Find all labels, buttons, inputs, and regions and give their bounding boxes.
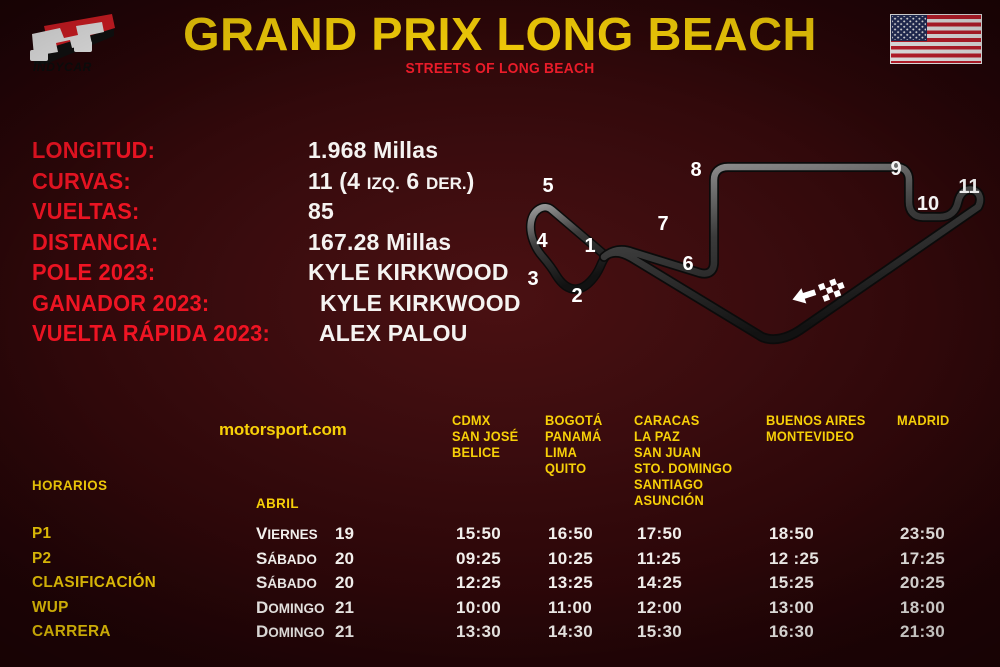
session-time: 09:25 xyxy=(456,549,501,569)
schedule-row: P2SÁBADO2009:2510:2511:2512 :2517:25 xyxy=(0,549,1000,574)
timezone-city: LA PAZ xyxy=(634,429,732,445)
timezone-city: ASUNCIÓN xyxy=(634,493,732,509)
schedule-row: WUPDOMINGO2110:0011:0012:0013:0018:00 xyxy=(0,598,1000,623)
stat-value: ALEX PALOU xyxy=(319,319,468,347)
stat-label: POLE 2023: xyxy=(32,258,155,286)
session-time: 21:30 xyxy=(900,622,945,642)
session-day: SÁBADO xyxy=(256,549,317,570)
timezone-city: LIMA xyxy=(545,445,602,461)
timezone-city: CARACAS xyxy=(634,413,732,429)
session-time: 20:25 xyxy=(900,573,945,593)
stat-row: CURVAS:11 (4 IZQ. 6 DER.) xyxy=(32,167,512,198)
session-time: 17:25 xyxy=(900,549,945,569)
direction-arrow-icon xyxy=(790,285,818,308)
session-time: 13:30 xyxy=(456,622,501,642)
stat-label: LONGITUD: xyxy=(32,136,155,164)
timezone-city: BELICE xyxy=(452,445,518,461)
session-time: 14:30 xyxy=(548,622,593,642)
session-date: 19 xyxy=(335,524,354,544)
corner-number-1: 1 xyxy=(584,235,595,257)
stat-label: DISTANCIA: xyxy=(32,228,159,256)
corner-number-11: 11 xyxy=(958,176,979,198)
session-name: CARRERA xyxy=(32,622,111,642)
stat-row: POLE 2023:KYLE KIRKWOOD xyxy=(32,258,512,289)
stat-value: 1.968 Millas xyxy=(308,136,438,164)
session-time: 13:00 xyxy=(769,598,814,618)
stat-row: DISTANCIA:167.28 Millas xyxy=(32,228,512,259)
stat-row: LONGITUD:1.968 Millas xyxy=(32,136,512,167)
corner-number-9: 9 xyxy=(890,158,901,180)
stat-label: VUELTAS: xyxy=(32,197,140,225)
session-time: 12:00 xyxy=(637,598,682,618)
session-name: P1 xyxy=(32,524,51,544)
corner-number-7: 7 xyxy=(657,213,668,235)
session-time: 15:25 xyxy=(769,573,814,593)
session-name: WUP xyxy=(32,598,69,618)
timezone-header: CDMXSAN JOSÉBELICE xyxy=(452,413,518,461)
timezone-city: BUENOS AIRES xyxy=(766,413,865,429)
session-time: 15:50 xyxy=(456,524,501,544)
timezone-city: MADRID xyxy=(897,413,949,429)
session-time: 10:25 xyxy=(548,549,593,569)
session-date: 20 xyxy=(335,573,354,593)
corner-number-4: 4 xyxy=(536,230,548,252)
stat-value: KYLE KIRKWOOD xyxy=(320,289,521,317)
session-date: 21 xyxy=(335,598,354,618)
session-day: DOMINGO xyxy=(256,622,325,643)
corner-number-3: 3 xyxy=(527,268,538,290)
session-time: 12 :25 xyxy=(769,549,819,569)
session-time: 15:30 xyxy=(637,622,682,642)
stat-row: GANADOR 2023:KYLE KIRKWOOD xyxy=(32,289,512,320)
session-time: 17:50 xyxy=(637,524,682,544)
session-time: 16:30 xyxy=(769,622,814,642)
stat-label: GANADOR 2023: xyxy=(32,289,209,317)
corner-number-6: 6 xyxy=(682,253,693,275)
session-date: 21 xyxy=(335,622,354,642)
corner-number-5: 5 xyxy=(542,175,553,197)
page-title: GRAND PRIX LONG BEACH xyxy=(0,8,1000,60)
session-day: DOMINGO xyxy=(256,598,325,619)
circuit-map: 1234567891011 xyxy=(500,130,1000,380)
flag-canton xyxy=(891,15,927,41)
corner-number-8: 8 xyxy=(690,159,701,181)
session-time: 18:50 xyxy=(769,524,814,544)
schedule-table: P1VIERNES1915:5016:5017:5018:5023:50P2SÁ… xyxy=(0,524,1000,647)
stat-row: VUELTAS:85 xyxy=(32,197,512,228)
stat-row: VUELTA RÁPIDA 2023:ALEX PALOU xyxy=(32,319,512,350)
session-time: 18:00 xyxy=(900,598,945,618)
timezone-city: STO. DOMINGO xyxy=(634,461,732,477)
page-subtitle: STREETS OF LONG BEACH xyxy=(40,60,960,77)
timezone-city: MONTEVIDEO xyxy=(766,429,865,445)
timezone-header: MADRID xyxy=(897,413,949,429)
timezone-city: SAN JOSÉ xyxy=(452,429,518,445)
session-time: 13:25 xyxy=(548,573,593,593)
timezone-header: BUENOS AIRESMONTEVIDEO xyxy=(766,413,865,445)
session-day: VIERNES xyxy=(256,524,318,545)
session-day: SÁBADO xyxy=(256,573,317,594)
stat-value: 85 xyxy=(308,197,334,225)
session-name: CLASIFICACIÓN xyxy=(32,573,156,593)
session-time: 16:50 xyxy=(548,524,593,544)
timezone-city: BOGOTÁ xyxy=(545,413,602,429)
stat-value: 167.28 Millas xyxy=(308,228,451,256)
race-info-poster: INDYCAR GRAND PRIX LONG BEACH STREETS OF… xyxy=(0,0,1000,667)
schedule-section-label: HORARIOS xyxy=(32,477,107,493)
session-time: 12:25 xyxy=(456,573,501,593)
stat-label: VUELTA RÁPIDA 2023: xyxy=(32,319,270,347)
schedule-row: CARRERADOMINGO2113:3014:3015:3016:3021:3… xyxy=(0,622,1000,647)
session-time: 10:00 xyxy=(456,598,501,618)
schedule-row: CLASIFICACIÓNSÁBADO2012:2513:2514:2515:2… xyxy=(0,573,1000,598)
timezone-header: BOGOTÁPANAMÁLIMAQUITO xyxy=(545,413,602,477)
race-stats-list: LONGITUD:1.968 MillasCURVAS:11 (4 IZQ. 6… xyxy=(32,136,512,350)
schedule-row: P1VIERNES1915:5016:5017:5018:5023:50 xyxy=(0,524,1000,549)
session-time: 11:25 xyxy=(637,549,681,569)
session-time: 11:00 xyxy=(548,598,592,618)
motorsport-brand-logo[interactable]: motorsport.com xyxy=(219,420,347,440)
timezone-city: SAN JUAN xyxy=(634,445,732,461)
timezone-city: CDMX xyxy=(452,413,518,429)
session-time: 14:25 xyxy=(637,573,682,593)
corner-number-2: 2 xyxy=(571,285,582,307)
corner-number-10: 10 xyxy=(917,193,939,215)
session-time: 23:50 xyxy=(900,524,945,544)
timezone-city: SANTIAGO xyxy=(634,477,732,493)
month-label: ABRIL xyxy=(256,495,299,511)
timezone-header: CARACASLA PAZSAN JUANSTO. DOMINGOSANTIAG… xyxy=(634,413,732,509)
session-name: P2 xyxy=(32,549,51,569)
flag-stars xyxy=(892,16,926,40)
timezone-city: QUITO xyxy=(545,461,602,477)
stat-value: 11 (4 IZQ. 6 DER.) xyxy=(308,167,474,198)
timezone-city: PANAMÁ xyxy=(545,429,602,445)
usa-flag-icon xyxy=(890,14,982,64)
stat-label: CURVAS: xyxy=(32,167,131,195)
stat-value: KYLE KIRKWOOD xyxy=(308,258,509,286)
session-date: 20 xyxy=(335,549,354,569)
